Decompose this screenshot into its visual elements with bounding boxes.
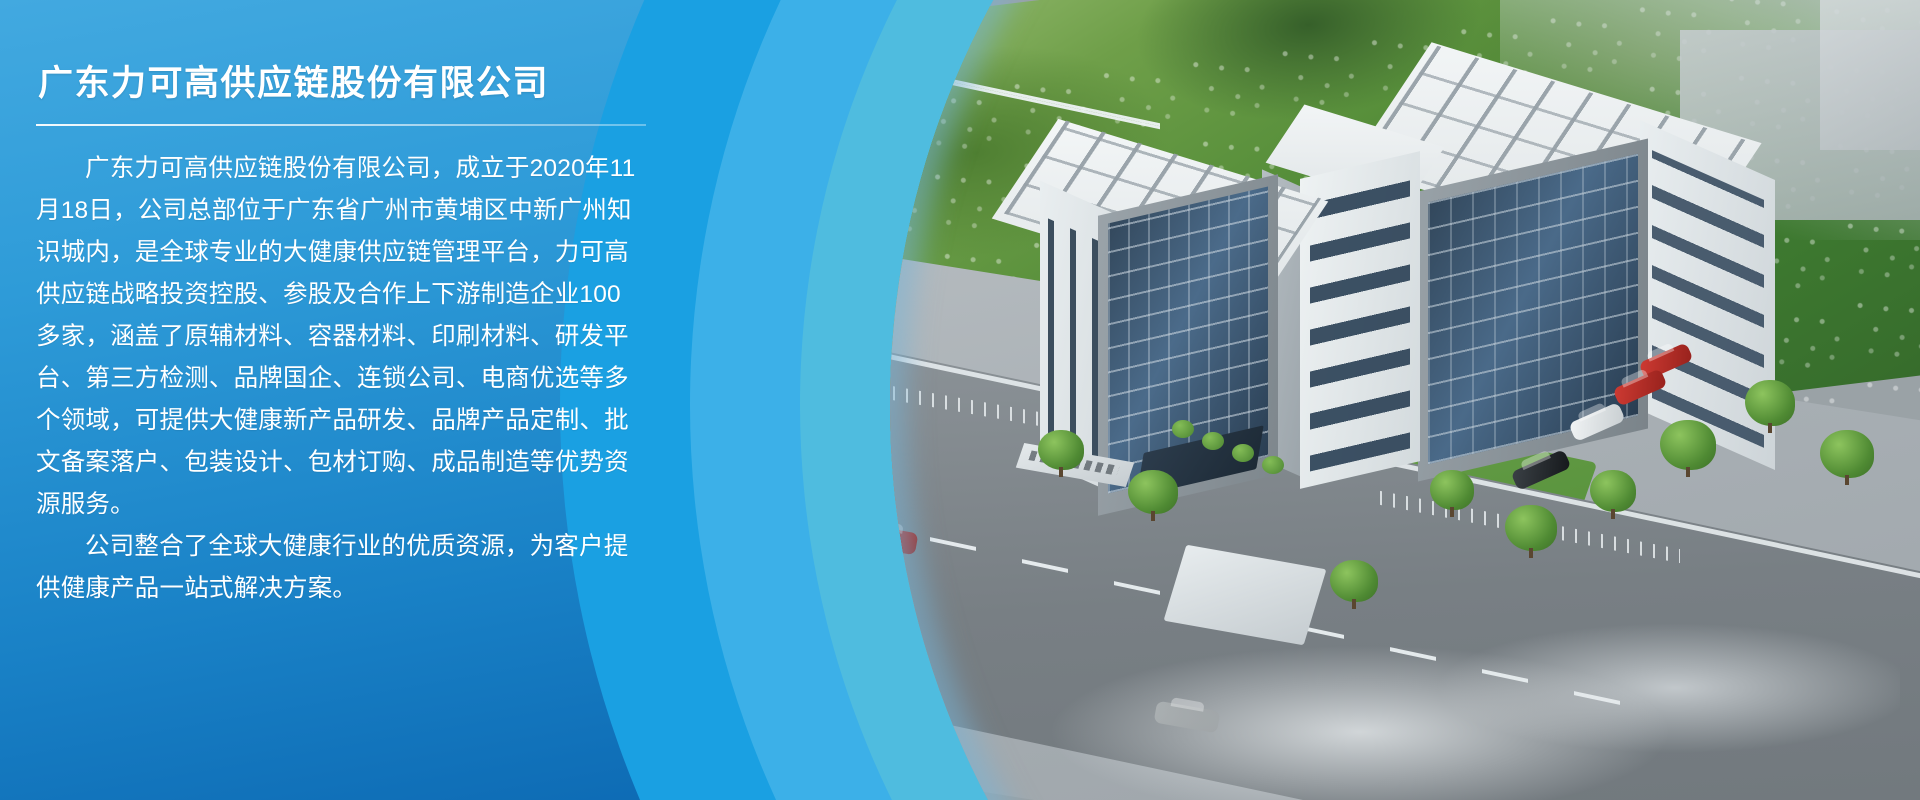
title-divider <box>36 124 646 126</box>
company-description: 广东力可高供应链股份有限公司，成立于2020年11月18日，公司总部位于广东省广… <box>36 148 636 610</box>
building-b-windows <box>1310 173 1410 471</box>
paragraph-1: 广东力可高供应链股份有限公司，成立于2020年11月18日，公司总部位于广东省广… <box>36 148 636 526</box>
tree <box>1590 470 1636 512</box>
facility-photo <box>890 0 1920 800</box>
page-title: 广东力可高供应链股份有限公司 <box>38 62 660 106</box>
background-block-building-e <box>1820 0 1920 150</box>
tree <box>1330 560 1378 602</box>
company-profile-banner: 广东力可高供应链股份有限公司 广东力可高供应链股份有限公司，成立于2020年11… <box>0 0 1920 800</box>
shrub <box>1232 444 1254 462</box>
shrub <box>1262 456 1284 474</box>
tree <box>1038 430 1084 470</box>
shrub <box>1202 432 1224 450</box>
tree <box>1128 470 1178 514</box>
tree <box>1820 430 1874 478</box>
text-column: 广东力可高供应链股份有限公司 广东力可高供应链股份有限公司，成立于2020年11… <box>0 0 660 800</box>
paragraph-2: 公司整合了全球大健康行业的优质资源，为客户提供健康产品一站式解决方案。 <box>36 526 636 610</box>
ground-mist <box>1000 600 1900 800</box>
tree <box>1505 505 1557 551</box>
tree <box>1745 380 1795 426</box>
facility-photo-mask <box>890 0 1920 800</box>
tree <box>1660 420 1716 470</box>
tree <box>1430 470 1474 510</box>
shrub <box>1172 420 1194 438</box>
